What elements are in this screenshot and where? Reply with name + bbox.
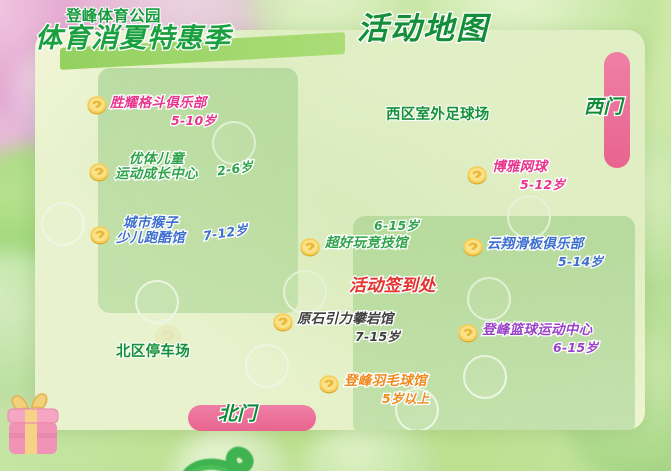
vine-icon bbox=[175, 427, 295, 471]
venue-age-boya-tennis: 5-12岁 bbox=[520, 178, 565, 192]
ring-marker-icon bbox=[135, 280, 179, 324]
venue-age-yunxiang-skate-club: 5-14岁 bbox=[558, 255, 603, 269]
venue-age-shengyao-fight-club: 5-10岁 bbox=[171, 114, 216, 128]
coin-icon bbox=[88, 161, 110, 183]
checkin-label: 活动签到处 bbox=[349, 277, 436, 296]
activity-map-poster: 登峰体育公园 体育消夏特惠季 活动地图 西门 北门 西区室外足球场 北区停车场 … bbox=[0, 0, 671, 471]
area-label-west-outdoor-football: 西区室外足球场 bbox=[386, 107, 490, 123]
venue-age-chaohaowan-esports: 6-15岁 bbox=[374, 219, 419, 233]
ring-marker-icon bbox=[283, 270, 327, 314]
page-title: 体育消夏特惠季 bbox=[35, 24, 231, 54]
map-title: 活动地图 bbox=[357, 12, 489, 47]
gate-label-west: 西门 bbox=[584, 97, 623, 118]
gate-label-north: 北门 bbox=[218, 404, 257, 425]
ring-marker-icon bbox=[467, 277, 511, 321]
venue-name-yunxiang-skate-club: 云翔滑板俱乐部 bbox=[487, 237, 584, 252]
ring-marker-icon bbox=[41, 202, 85, 246]
venue-name-youti-kids-center: 优体儿童 运动成长中心 bbox=[115, 152, 198, 182]
venue-age-dengfeng-badminton: 5岁以上 bbox=[382, 392, 429, 406]
coin-icon bbox=[272, 311, 294, 333]
venue-name-chaohaowan-esports: 超好玩竞技馆 bbox=[325, 236, 408, 251]
area-label-north-parking: 北区停车场 bbox=[116, 344, 190, 360]
coin-icon bbox=[318, 373, 340, 395]
ring-marker-icon bbox=[463, 355, 507, 399]
venue-name-city-monkey-parkour: 城市猴子 少儿跑酷馆 bbox=[116, 216, 185, 246]
venue-age-dengfeng-basketball: 6-15岁 bbox=[553, 341, 598, 355]
coin-icon bbox=[86, 94, 108, 116]
coin-icon bbox=[466, 164, 488, 186]
ring-marker-icon bbox=[507, 195, 551, 239]
coin-icon bbox=[299, 236, 321, 258]
venue-name-yuanshi-climbing: 原石引力攀岩馆 bbox=[297, 312, 394, 327]
venue-name-shengyao-fight-club: 胜耀格斗俱乐部 bbox=[110, 96, 207, 111]
venue-name-boya-tennis: 博雅网球 bbox=[492, 160, 547, 175]
venue-name-dengfeng-basketball: 登峰篮球运动中心 bbox=[482, 323, 592, 338]
gift-box-icon bbox=[4, 389, 74, 461]
coin-icon bbox=[462, 236, 484, 258]
coin-icon bbox=[457, 322, 479, 344]
venue-age-yuanshi-climbing: 7-15岁 bbox=[355, 330, 400, 344]
venue-name-dengfeng-badminton: 登峰羽毛球馆 bbox=[344, 374, 427, 389]
coin-icon bbox=[89, 224, 111, 246]
ring-marker-icon bbox=[245, 344, 289, 388]
